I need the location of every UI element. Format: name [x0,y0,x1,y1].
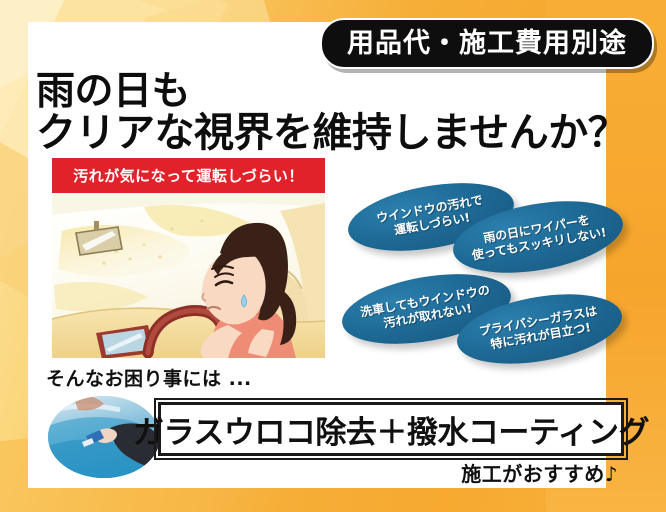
headline-line-1: 雨の日も [36,72,627,113]
illustration-banner-label: 汚れが気になって運転しづらい！ [73,165,304,186]
headline: 雨の日も クリアな視界を維持しませんか？ [36,72,627,154]
price-note-badge: 用品代・施工費用別途 [320,18,654,69]
complaint-bubble-label: 雨の日にワイパーを 使ってもスッキリしない! [468,210,608,264]
headline-line-2: クリアな視界を維持しませんか？ [36,113,627,155]
driving-illustration-icon [52,193,325,358]
service-title-box: ガラスウロコ除去＋撥水コーティング [158,402,624,456]
illustration-panel: 汚れが気になって運転しづらい！ [52,158,325,358]
illustration-banner: 汚れが気になって運転しづらい！ [52,158,325,193]
lead-in-text: そんなお困り事には ... [46,364,252,391]
promo-poster: 用品代・施工費用別途 雨の日も クリアな視界を維持しませんか？ 汚れが気になって… [0,0,666,512]
recommend-text: 施工がおすすめ♪ [461,458,618,487]
complaint-bubble-label: プライバシーガラスは 特に汚れが目立つ! [478,303,601,354]
price-note-badge-label: 用品代・施工費用別途 [347,30,627,57]
service-title-label: ガラスウロコ除去＋撥水コーティング [133,407,649,452]
